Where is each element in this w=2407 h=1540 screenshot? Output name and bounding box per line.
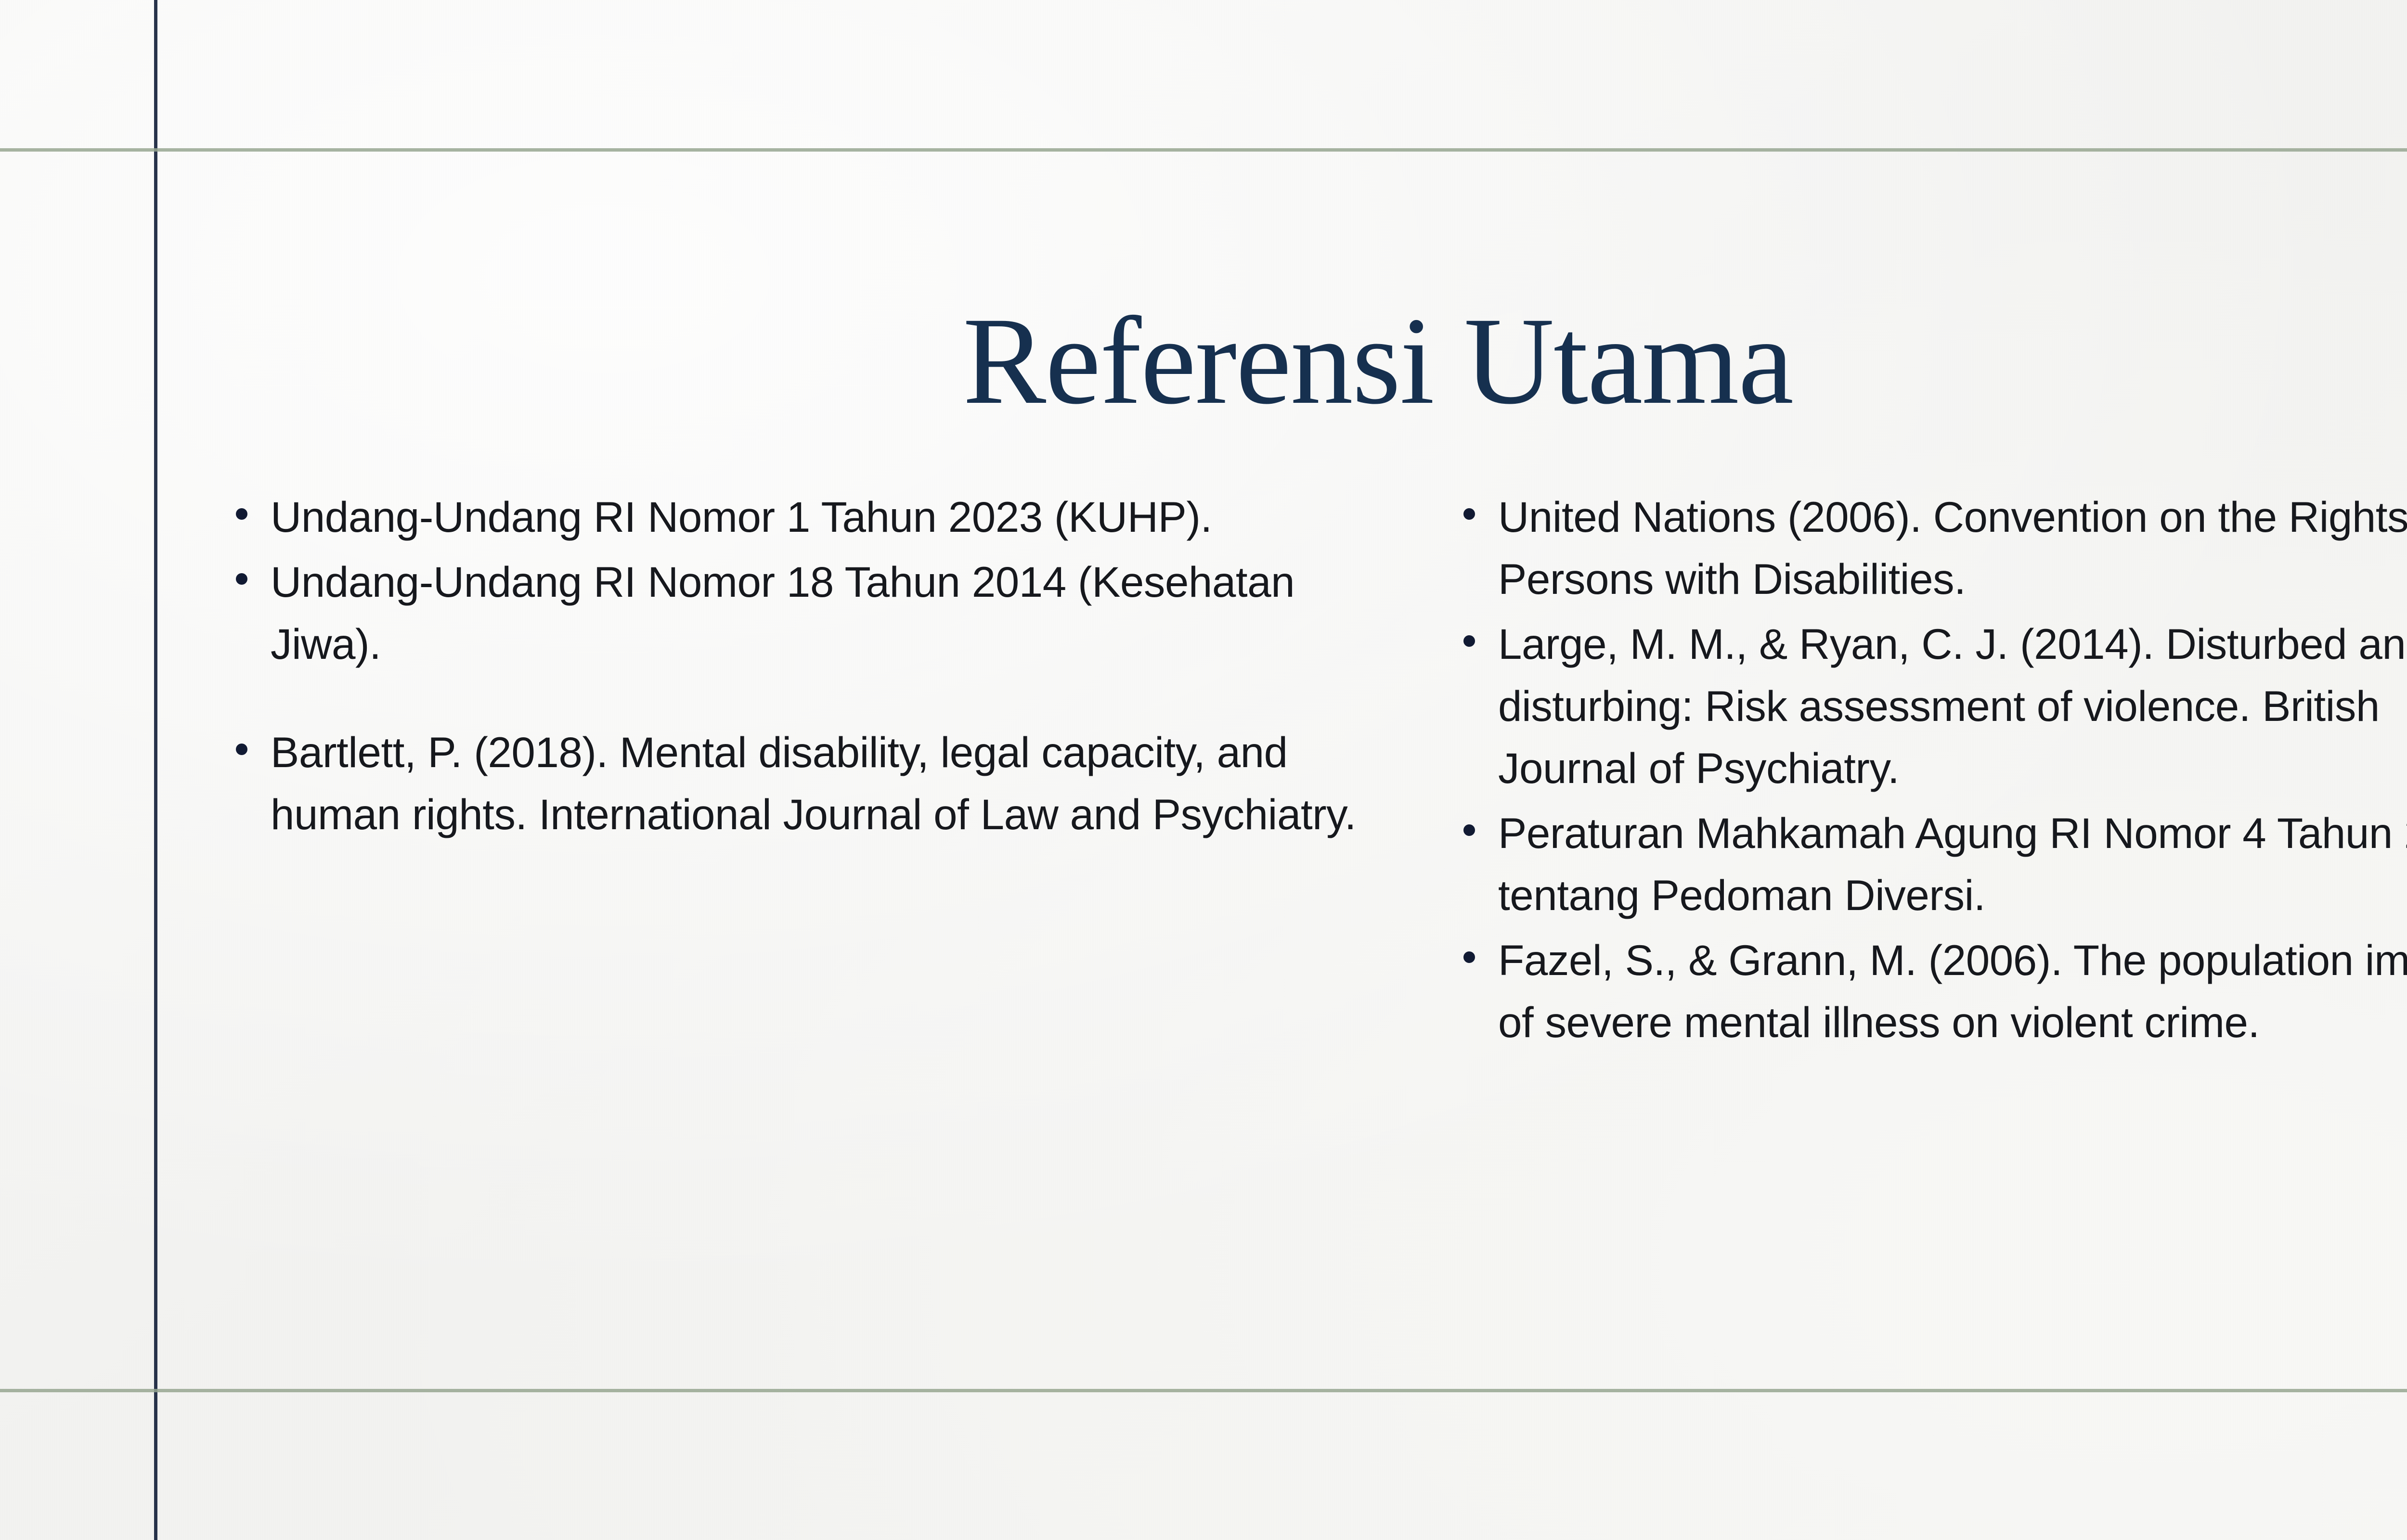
list-item: Fazel, S., & Grann, M. (2006). The popul… — [1454, 929, 2407, 1053]
reference-list-right: United Nations (2006). Convention on the… — [1454, 486, 2407, 1053]
references-columns: Undang-Undang RI Nomor 1 Tahun 2023 (KUH… — [226, 486, 2407, 1056]
list-item: Undang-Undang RI Nomor 18 Tahun 2014 (Ke… — [226, 551, 1367, 675]
reference-text: Peraturan Mahkamah Agung RI Nomor 4 Tahu… — [1498, 809, 2407, 919]
reference-list-left: Undang-Undang RI Nomor 1 Tahun 2023 (KUH… — [226, 486, 1367, 846]
references-column-right: United Nations (2006). Convention on the… — [1367, 486, 2407, 1056]
slide-canvas: Referensi Utama Undang-Undang RI Nomor 1… — [0, 0, 2407, 1540]
list-item: United Nations (2006). Convention on the… — [1454, 486, 2407, 610]
reference-text: Fazel, S., & Grann, M. (2006). The popul… — [1498, 936, 2407, 1046]
reference-text: United Nations (2006). Convention on the… — [1498, 493, 2407, 603]
frame-rule-horizontal-bottom — [0, 1389, 2407, 1392]
reference-text: Undang-Undang RI Nomor 18 Tahun 2014 (Ke… — [271, 558, 1294, 668]
list-item: Bartlett, P. (2018). Mental disability, … — [226, 721, 1367, 846]
list-item: Peraturan Mahkamah Agung RI Nomor 4 Tahu… — [1454, 802, 2407, 926]
frame-rule-vertical-left — [154, 0, 157, 1540]
reference-text: Large, M. M., & Ryan, C. J. (2014). Dist… — [1498, 620, 2407, 792]
list-item: Large, M. M., & Ryan, C. J. (2014). Dist… — [1454, 613, 2407, 799]
list-item: Undang-Undang RI Nomor 1 Tahun 2023 (KUH… — [226, 486, 1367, 548]
frame-rule-horizontal-top — [0, 148, 2407, 152]
reference-text: Undang-Undang RI Nomor 1 Tahun 2023 (KUH… — [271, 493, 1212, 541]
references-column-left: Undang-Undang RI Nomor 1 Tahun 2023 (KUH… — [226, 486, 1367, 1056]
slide-title: Referensi Utama — [154, 295, 2407, 427]
reference-text: Bartlett, P. (2018). Mental disability, … — [271, 728, 1356, 838]
